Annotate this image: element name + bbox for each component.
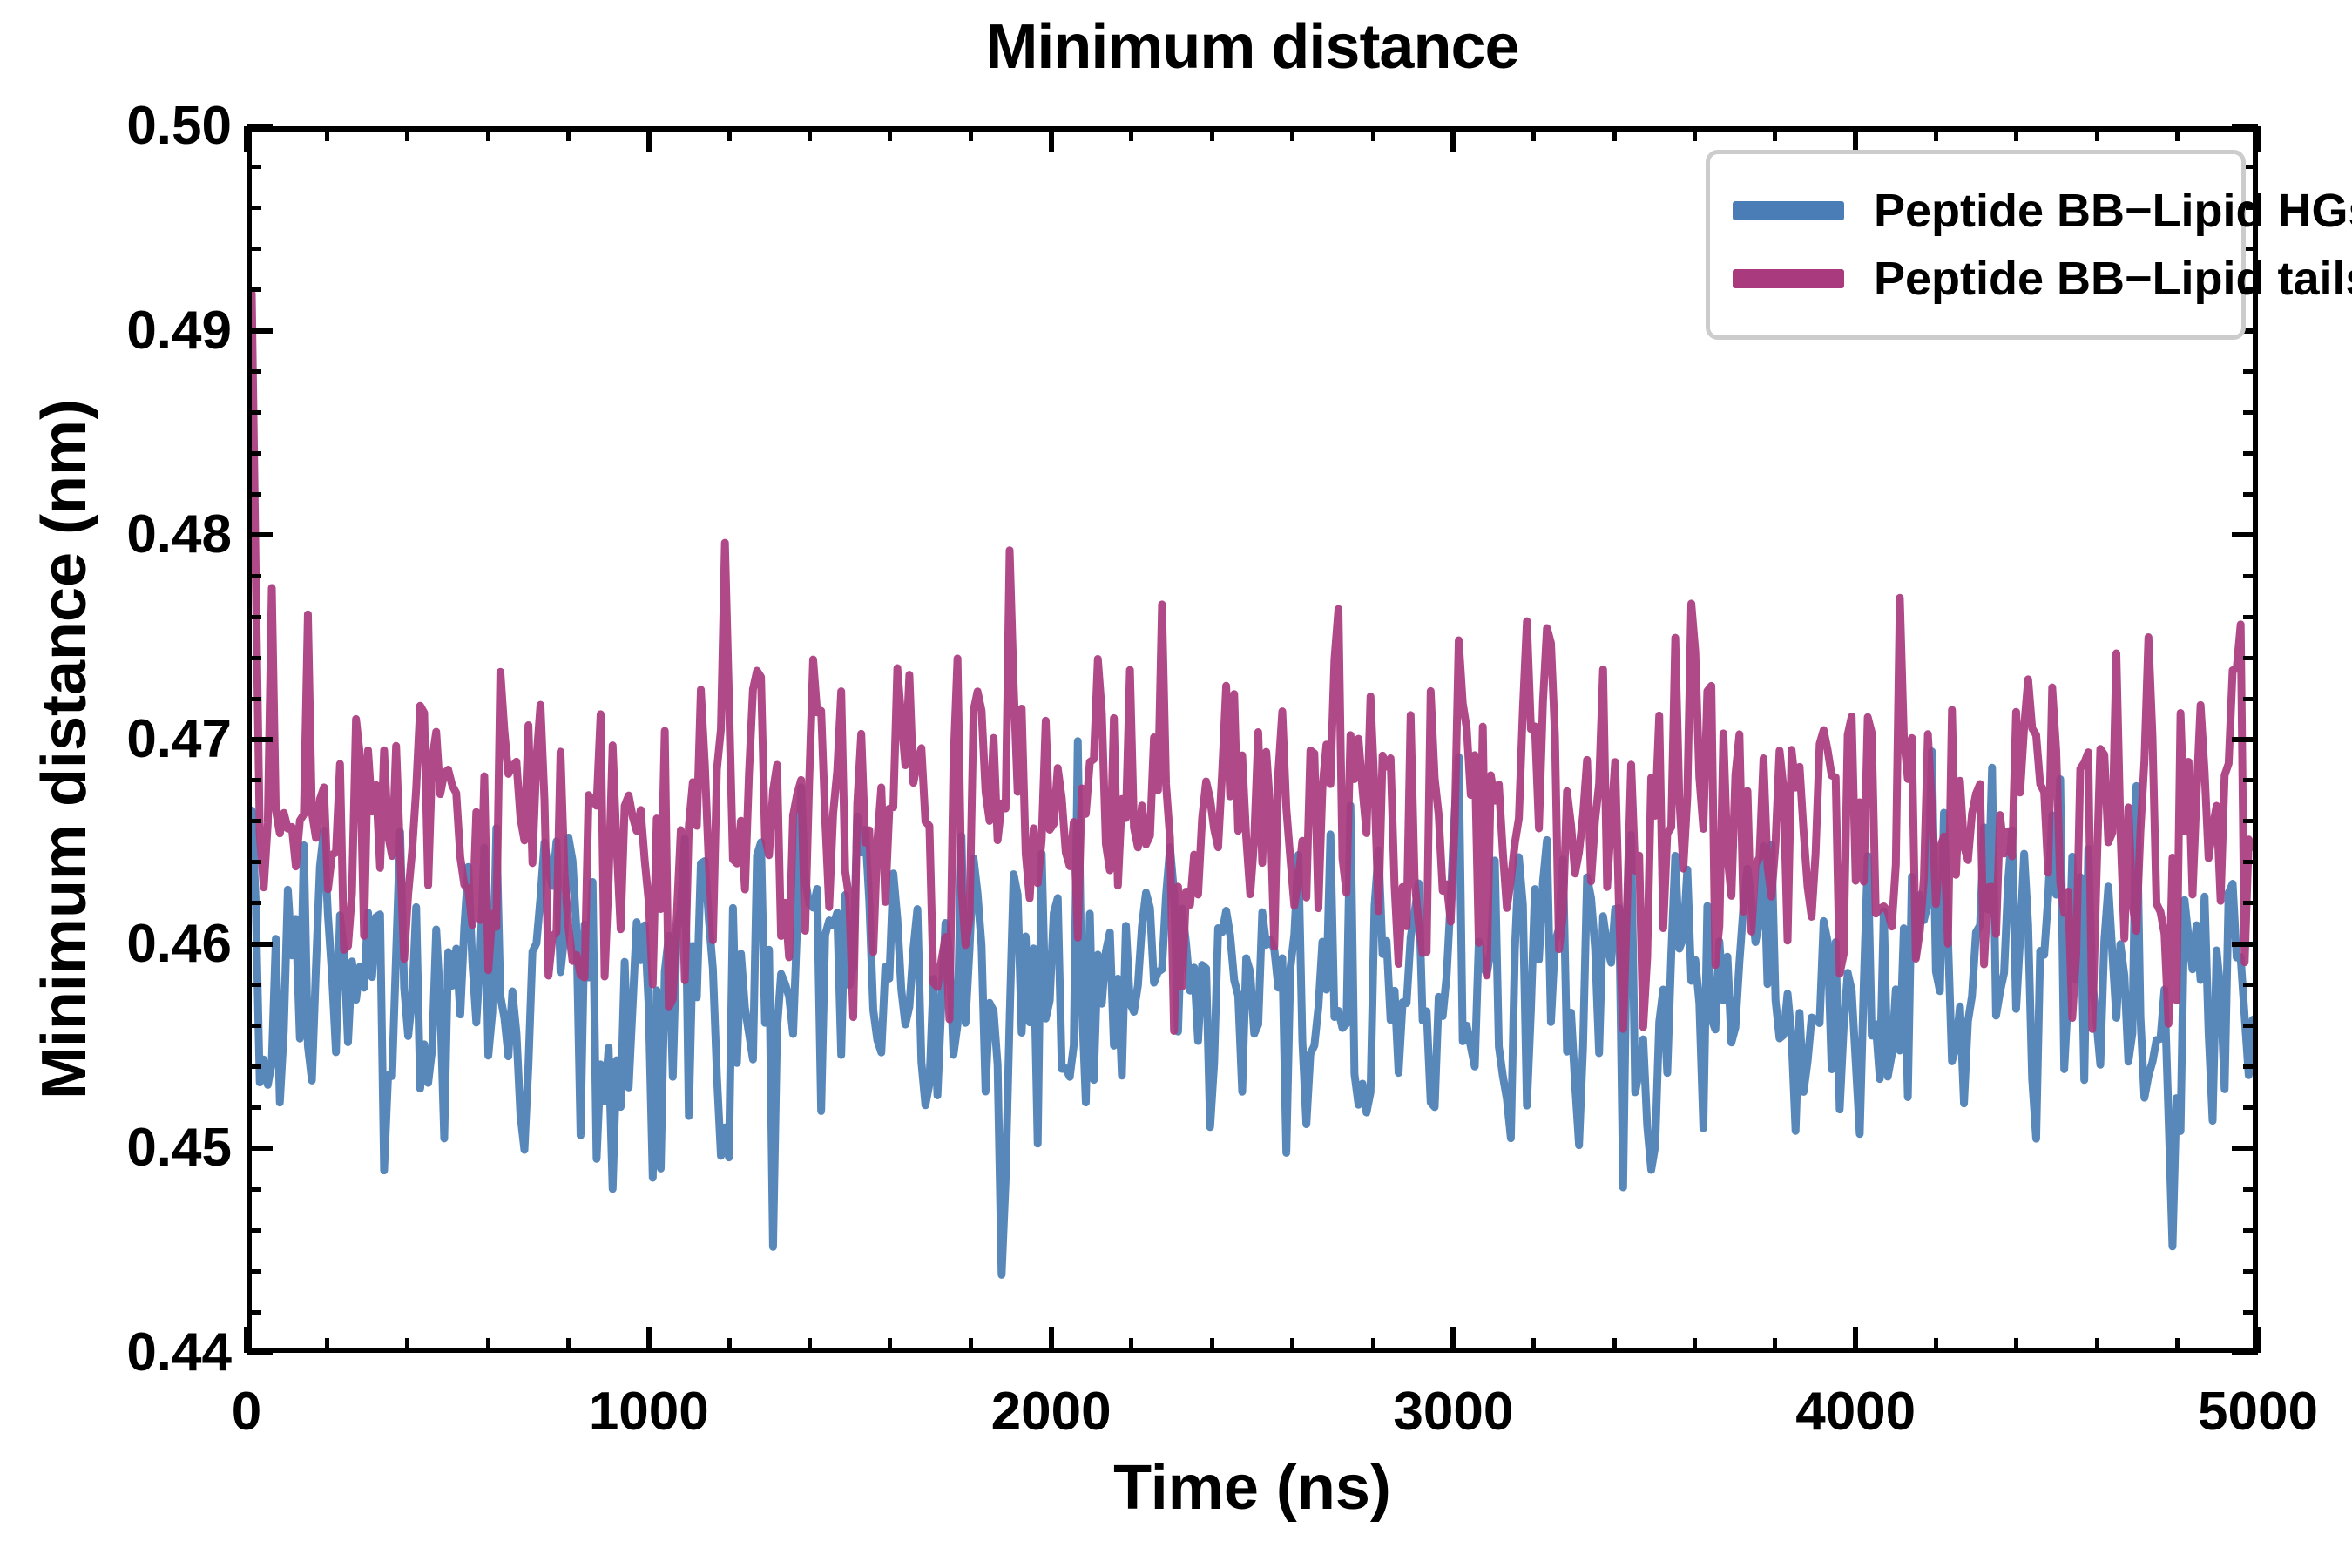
x-tick-major-top xyxy=(244,126,249,152)
y-tick-minor xyxy=(247,574,261,578)
y-tick-minor-right xyxy=(2243,574,2258,578)
x-tick-major xyxy=(1450,1327,1456,1353)
y-tick-major xyxy=(247,1146,273,1151)
figure-canvas: Minimum distance 0.440.450.460.470.480.4… xyxy=(0,0,2352,1568)
x-tick-minor xyxy=(1290,1338,1294,1353)
y-tick-minor-right xyxy=(2243,369,2258,374)
x-tick-minor-top xyxy=(566,126,571,141)
x-tick-major xyxy=(1049,1327,1054,1353)
x-tick-minor-top xyxy=(1210,126,1214,141)
x-tick-minor xyxy=(1129,1338,1133,1353)
x-tick-minor-top xyxy=(1693,126,1697,141)
x-tick-minor xyxy=(486,1338,490,1353)
x-tick-minor-top xyxy=(1531,126,1536,141)
x-tick-minor-top xyxy=(808,126,812,141)
y-tick-minor-right xyxy=(2243,1105,2258,1110)
chart-title: Minimum distance xyxy=(247,16,2258,78)
y-tick-label: 0.48 xyxy=(126,508,232,562)
y-tick-minor xyxy=(247,492,261,497)
x-tick-minor xyxy=(2095,1338,2099,1353)
y-tick-minor xyxy=(247,901,261,905)
y-tick-major-right xyxy=(2232,1350,2258,1355)
y-tick-minor-right xyxy=(2243,656,2258,660)
y-tick-minor-right xyxy=(2243,901,2258,905)
y-tick-minor xyxy=(247,247,261,251)
x-tick-minor-top xyxy=(1773,126,1777,141)
y-axis-title: Minimum distance (nm) xyxy=(33,136,96,1362)
legend-item-hgs[interactable]: Peptide BB−Lipid HGs xyxy=(1733,177,2217,245)
x-tick-major-top xyxy=(1450,126,1456,152)
x-tick-minor xyxy=(1693,1338,1697,1353)
y-tick-label: 0.45 xyxy=(126,1121,232,1175)
y-tick-minor xyxy=(247,778,261,782)
y-tick-label: 0.50 xyxy=(126,99,232,153)
x-tick-minor-top xyxy=(486,126,490,141)
x-tick-minor xyxy=(969,1338,973,1353)
x-tick-minor-top xyxy=(405,126,409,141)
y-tick-minor xyxy=(247,165,261,169)
x-tick-minor-top xyxy=(1129,126,1133,141)
y-tick-minor xyxy=(247,860,261,864)
y-tick-major xyxy=(247,737,273,742)
x-tick-major xyxy=(646,1327,652,1353)
y-tick-minor xyxy=(247,206,261,210)
y-tick-minor-right xyxy=(2243,819,2258,823)
x-tick-minor xyxy=(566,1338,571,1353)
y-tick-minor xyxy=(247,1269,261,1274)
y-tick-minor-right xyxy=(2243,451,2258,456)
y-tick-minor xyxy=(247,1064,261,1069)
y-tick-minor-right xyxy=(2243,1310,2258,1315)
x-tick-major xyxy=(244,1327,249,1353)
y-tick-minor xyxy=(247,983,261,987)
y-tick-major-right xyxy=(2232,1146,2258,1151)
x-tick-minor-top xyxy=(727,126,732,141)
x-tick-minor-top xyxy=(969,126,973,141)
x-tick-minor xyxy=(2014,1338,2018,1353)
y-tick-minor xyxy=(247,1310,261,1315)
y-tick-minor xyxy=(247,819,261,823)
x-tick-minor xyxy=(1371,1338,1375,1353)
x-tick-minor xyxy=(1773,1338,1777,1353)
y-tick-minor-right xyxy=(2243,1228,2258,1233)
x-tick-minor xyxy=(1612,1338,1617,1353)
y-tick-minor xyxy=(247,287,261,292)
y-tick-minor-right xyxy=(2243,1269,2258,1274)
x-tick-minor-top xyxy=(325,126,329,141)
y-tick-minor xyxy=(247,369,261,374)
x-tick-major-top xyxy=(1853,126,1858,152)
y-tick-minor-right xyxy=(2243,1187,2258,1192)
y-tick-major xyxy=(247,328,273,334)
x-axis-title: Time (ns) xyxy=(247,1456,2258,1519)
x-tick-label: 4000 xyxy=(1795,1385,1916,1439)
legend-label-hgs: Peptide BB−Lipid HGs xyxy=(1874,187,2352,234)
y-tick-major-right xyxy=(2232,942,2258,947)
y-tick-minor-right xyxy=(2243,410,2258,415)
y-tick-minor xyxy=(247,1228,261,1233)
y-tick-minor xyxy=(247,410,261,415)
x-tick-label: 0 xyxy=(232,1385,261,1439)
y-tick-minor-right xyxy=(2243,1024,2258,1028)
y-tick-major xyxy=(247,124,273,129)
x-tick-minor-top xyxy=(1371,126,1375,141)
x-tick-minor xyxy=(405,1338,409,1353)
x-tick-minor xyxy=(1531,1338,1536,1353)
x-tick-minor-top xyxy=(888,126,892,141)
y-tick-major-right xyxy=(2232,124,2258,129)
y-tick-major-right xyxy=(2232,532,2258,537)
x-tick-minor xyxy=(727,1338,732,1353)
legend-label-tails: Peptide BB−Lipid tails xyxy=(1874,255,2352,302)
x-tick-minor-top xyxy=(1290,126,1294,141)
y-tick-major-right xyxy=(2232,737,2258,742)
y-tick-minor xyxy=(247,615,261,619)
x-tick-minor xyxy=(325,1338,329,1353)
x-tick-label: 3000 xyxy=(1393,1385,1513,1439)
y-tick-minor-right xyxy=(2243,615,2258,619)
x-tick-major xyxy=(1853,1327,1858,1353)
x-tick-minor-top xyxy=(1612,126,1617,141)
legend-box: Peptide BB−Lipid HGs Peptide BB−Lipid ta… xyxy=(1706,150,2246,340)
y-tick-minor xyxy=(247,1024,261,1028)
x-tick-label: 5000 xyxy=(2198,1385,2318,1439)
x-tick-minor xyxy=(1210,1338,1214,1353)
y-tick-label: 0.47 xyxy=(126,713,232,767)
x-tick-minor-top xyxy=(2014,126,2018,141)
x-tick-label: 2000 xyxy=(991,1385,1112,1439)
x-tick-minor xyxy=(808,1338,812,1353)
y-tick-minor xyxy=(247,1105,261,1110)
x-tick-minor-top xyxy=(1934,126,1938,141)
y-tick-major xyxy=(247,942,273,947)
legend-item-tails[interactable]: Peptide BB−Lipid tails xyxy=(1733,245,2217,313)
x-tick-minor xyxy=(1934,1338,1938,1353)
x-tick-minor xyxy=(2175,1338,2180,1353)
y-tick-minor-right xyxy=(2243,492,2258,497)
y-tick-major xyxy=(247,1350,273,1355)
x-tick-major xyxy=(2255,1327,2261,1353)
y-tick-minor xyxy=(247,451,261,456)
y-tick-label: 0.44 xyxy=(126,1326,232,1380)
y-tick-label: 0.49 xyxy=(126,304,232,358)
y-tick-minor-right xyxy=(2243,697,2258,701)
y-tick-label: 0.46 xyxy=(126,917,232,971)
y-tick-minor xyxy=(247,1187,261,1192)
x-tick-minor-top xyxy=(2095,126,2099,141)
y-tick-minor xyxy=(247,656,261,660)
legend-swatch-tails xyxy=(1733,269,1844,288)
x-tick-major-top xyxy=(646,126,652,152)
x-tick-minor-top xyxy=(2175,126,2180,141)
y-tick-minor xyxy=(247,697,261,701)
x-tick-major-top xyxy=(1049,126,1054,152)
y-tick-minor-right xyxy=(2243,778,2258,782)
x-tick-label: 1000 xyxy=(589,1385,709,1439)
y-tick-major xyxy=(247,532,273,537)
y-tick-minor-right xyxy=(2243,1064,2258,1069)
legend-swatch-hgs xyxy=(1733,201,1844,220)
series-line-tails xyxy=(252,294,2253,1031)
x-tick-minor xyxy=(888,1338,892,1353)
x-tick-major-top xyxy=(2255,126,2261,152)
y-tick-minor-right xyxy=(2243,860,2258,864)
y-tick-minor-right xyxy=(2243,983,2258,987)
